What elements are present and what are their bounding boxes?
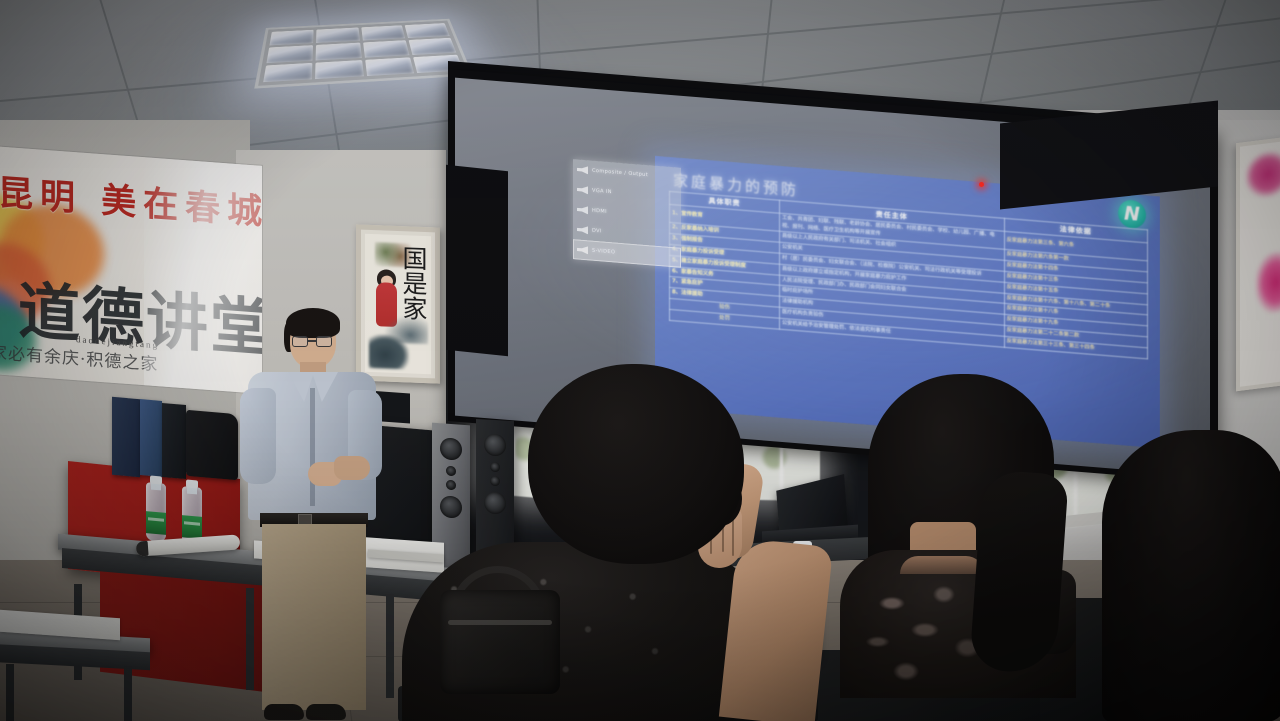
audience3-hair bbox=[1102, 430, 1280, 721]
water-bottle bbox=[146, 482, 166, 542]
pink-motif-lower bbox=[1256, 250, 1280, 315]
audience-seated-floral bbox=[838, 374, 1078, 694]
wall-banner-poster: 昆明 美在春城 道德讲堂 daodejiangtang 家必有余庆·积德之家 bbox=[0, 146, 262, 394]
slide-table: 具体职责 责任主体 法律依据 1、宣传教育工会、共青团、妇联、残联、老龄协会、居… bbox=[669, 191, 1148, 359]
osd-menu-item-label: HDMI bbox=[592, 208, 607, 215]
screen-side-panel-left bbox=[446, 165, 508, 357]
audience-far-right bbox=[1094, 430, 1280, 721]
presenter-arm-left bbox=[240, 388, 276, 484]
audience-foreground bbox=[398, 352, 818, 721]
shoe-left bbox=[264, 704, 304, 720]
photo-scene: 昆明 美在春城 道德讲堂 daodejiangtang 家必有余庆·积德之家 国… bbox=[0, 0, 1280, 721]
speaker-icon bbox=[577, 185, 588, 194]
osd-menu-item-label: VGA IN bbox=[592, 188, 612, 196]
audience1-head bbox=[528, 364, 744, 564]
equipment-case bbox=[186, 410, 238, 481]
circular-n-logo bbox=[1118, 199, 1146, 229]
painting-calligraphy: 国是家 bbox=[400, 245, 426, 321]
speaker-icon bbox=[577, 205, 588, 214]
desk-leg bbox=[386, 594, 394, 698]
file-binder bbox=[140, 399, 162, 477]
speaker-icon bbox=[577, 165, 588, 174]
presenter bbox=[236, 310, 386, 721]
power-indicator-led bbox=[979, 182, 984, 187]
pink-motif-upper bbox=[1246, 149, 1280, 200]
speaker-icon bbox=[577, 225, 588, 234]
handbag-trim bbox=[448, 620, 552, 625]
presenter-hand-right bbox=[334, 456, 370, 480]
presenter-hair bbox=[286, 308, 340, 338]
osd-menu-item-label: S-VIDEO bbox=[592, 248, 615, 256]
speaker-icon bbox=[577, 245, 588, 254]
file-binder bbox=[112, 397, 140, 477]
framed-picture-right bbox=[1236, 137, 1280, 391]
file-binder bbox=[162, 403, 186, 479]
handbag bbox=[440, 590, 560, 694]
player-overlay-menu[interactable]: Composite / OutputVGA INHDMIDVIS-VIDEO bbox=[573, 159, 681, 268]
audience1-arm bbox=[719, 537, 833, 721]
presenter-trousers bbox=[262, 524, 366, 710]
desk-leg bbox=[124, 666, 132, 721]
osd-menu-item-label: Composite / Output bbox=[592, 168, 648, 179]
osd-menu-item-label: DVI bbox=[592, 228, 602, 235]
shirt-placket bbox=[310, 388, 315, 506]
shoe-right bbox=[306, 704, 346, 720]
eyeglasses bbox=[292, 336, 334, 347]
audience2-shoulder bbox=[900, 556, 984, 574]
desk-leg bbox=[6, 664, 14, 721]
